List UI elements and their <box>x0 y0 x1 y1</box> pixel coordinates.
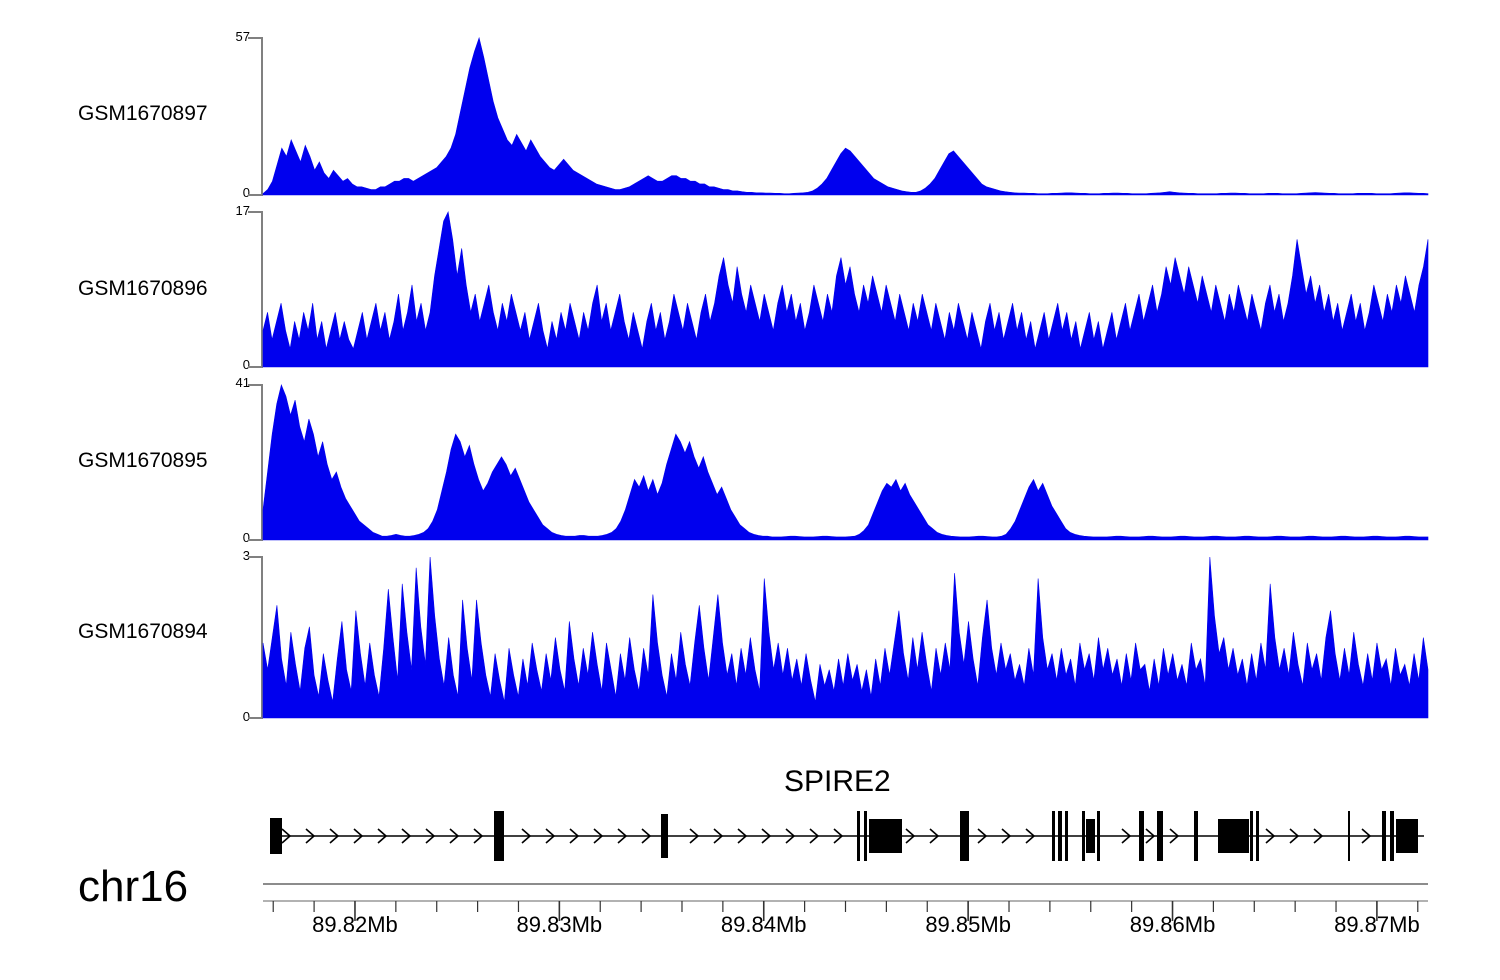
axis-min-gsm1670894: 0 <box>206 709 250 724</box>
ruler-tick-label: 89.86Mb <box>1113 912 1233 938</box>
ruler-tick-label: 89.85Mb <box>908 912 1028 938</box>
track-label-gsm1670895: GSM1670895 <box>78 449 208 473</box>
axis-max-gsm1670894: 3 <box>206 548 250 563</box>
axis-max-gsm1670895: 41 <box>206 375 250 390</box>
gene-model-group <box>270 811 1424 861</box>
genome-browser: GSM1670897 GSM1670896 GSM1670895 GSM1670… <box>0 0 1500 980</box>
track-axes-group <box>248 38 262 718</box>
axis-min-gsm1670896: 0 <box>206 357 250 372</box>
axis-max-gsm1670897: 57 <box>206 29 250 44</box>
coordinate-ruler-group <box>263 884 1428 921</box>
track-label-gsm1670894: GSM1670894 <box>78 620 208 644</box>
axis-min-gsm1670895: 0 <box>206 530 250 545</box>
track-label-gsm1670896: GSM1670896 <box>78 277 208 301</box>
gene-name-label: SPIRE2 <box>784 765 891 799</box>
ruler-tick-label: 89.82Mb <box>295 912 415 938</box>
ruler-tick-label: 89.83Mb <box>499 912 619 938</box>
axis-max-gsm1670896: 17 <box>206 203 250 218</box>
axis-min-gsm1670897: 0 <box>206 185 250 200</box>
track-label-gsm1670897: GSM1670897 <box>78 102 208 126</box>
ruler-tick-label: 89.87Mb <box>1317 912 1437 938</box>
signal-tracks-group <box>263 38 1428 718</box>
chromosome-label: chr16 <box>78 862 188 912</box>
browser-canvas <box>0 0 1500 980</box>
ruler-tick-label: 89.84Mb <box>704 912 824 938</box>
